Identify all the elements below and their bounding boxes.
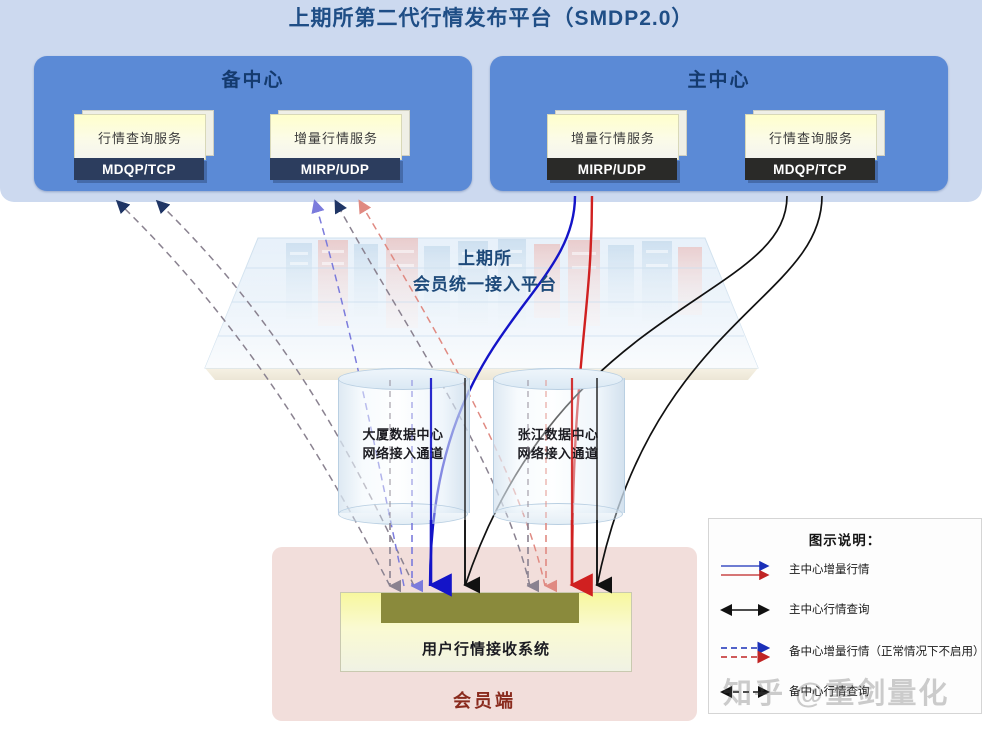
service-name: 行情查询服务 (98, 128, 182, 147)
platform-block: 上期所 会员统一接入平台 (195, 222, 775, 387)
protocol-bar: MIRP/UDP (547, 158, 677, 180)
channel-label-dasha: 大厦数据中心 网络接入通道 (338, 425, 468, 463)
service-box-backup-query[interactable]: 行情查询服务 MDQP/TCP (74, 114, 212, 180)
legend-label: 主中心行情查询 (789, 595, 870, 625)
legend-row-backup-incremental: 备中心增量行情（正常情况下不启用） (719, 637, 977, 667)
member-zone-label: 会员端 (272, 687, 697, 713)
legend-swatch-double-solid (719, 555, 781, 585)
protocol-bar: MDQP/TCP (74, 158, 204, 180)
legend-swatch-double-dashed (719, 637, 781, 667)
platform-label: 上期所 会员统一接入平台 (195, 246, 775, 298)
platform-label-line2: 会员统一接入平台 (195, 272, 775, 298)
channel-cylinder-zhangjiang[interactable]: 张江数据中心 网络接入通道 (493, 368, 623, 523)
service-card: 增量行情服务 (547, 114, 679, 160)
channel-label-zhangjiang: 张江数据中心 网络接入通道 (493, 425, 623, 463)
service-name: 增量行情服务 (294, 128, 378, 147)
watermark: 知乎 @重剑量化 (723, 672, 973, 716)
protocol-bar: MIRP/UDP (270, 158, 400, 180)
protocol-bar: MDQP/TCP (745, 158, 875, 180)
legend-label: 备中心增量行情（正常情况下不启用） (789, 637, 982, 667)
diagram-canvas: 上期所第二代行情发布平台（SMDP2.0） 备中心 行情查询服务 MDQP/TC… (0, 0, 982, 731)
channel-label-line1: 张江数据中心 (517, 427, 598, 442)
center-title-main: 主中心 (490, 65, 948, 92)
channel-cylinder-dasha[interactable]: 大厦数据中心 网络接入通道 (338, 368, 468, 523)
cylinder-top (493, 368, 623, 390)
member-receiving-system-box[interactable]: 用户行情接收系统 (340, 592, 632, 672)
service-card: 行情查询服务 (745, 114, 877, 160)
channel-label-line1: 大厦数据中心 (362, 427, 443, 442)
center-title-backup: 备中心 (34, 65, 472, 92)
cylinder-top (338, 368, 468, 390)
service-name: 增量行情服务 (571, 128, 655, 147)
member-system-header-bar (381, 593, 579, 623)
service-card: 增量行情服务 (270, 114, 402, 160)
legend-title: 图示说明： (709, 529, 981, 549)
legend-swatch-solid-bidirectional (719, 595, 781, 625)
service-box-main-incremental[interactable]: 增量行情服务 MIRP/UDP (547, 114, 685, 180)
platform-label-line1: 上期所 (458, 249, 512, 268)
legend-label: 主中心增量行情 (789, 555, 870, 585)
service-box-main-query[interactable]: 行情查询服务 MDQP/TCP (745, 114, 883, 180)
service-card: 行情查询服务 (74, 114, 206, 160)
cylinder-bottom (338, 503, 468, 525)
channel-label-line2: 网络接入通道 (517, 446, 598, 461)
legend-row-main-query: 主中心行情查询 (719, 595, 977, 625)
member-system-label: 用户行情接收系统 (341, 638, 631, 659)
legend-row-main-incremental: 主中心增量行情 (719, 555, 977, 585)
channel-label-line2: 网络接入通道 (362, 446, 443, 461)
center-panel-main[interactable]: 主中心 增量行情服务 MIRP/UDP 行情查询服务 MDQP/TCP (490, 56, 948, 191)
member-zone[interactable]: 用户行情接收系统 会员端 (272, 547, 697, 721)
cylinder-bottom (493, 503, 623, 525)
center-panel-backup[interactable]: 备中心 行情查询服务 MDQP/TCP 增量行情服务 MIRP/UDP (34, 56, 472, 191)
service-box-backup-incremental[interactable]: 增量行情服务 MIRP/UDP (270, 114, 408, 180)
page-title: 上期所第二代行情发布平台（SMDP2.0） (0, 3, 982, 35)
service-name: 行情查询服务 (769, 128, 853, 147)
